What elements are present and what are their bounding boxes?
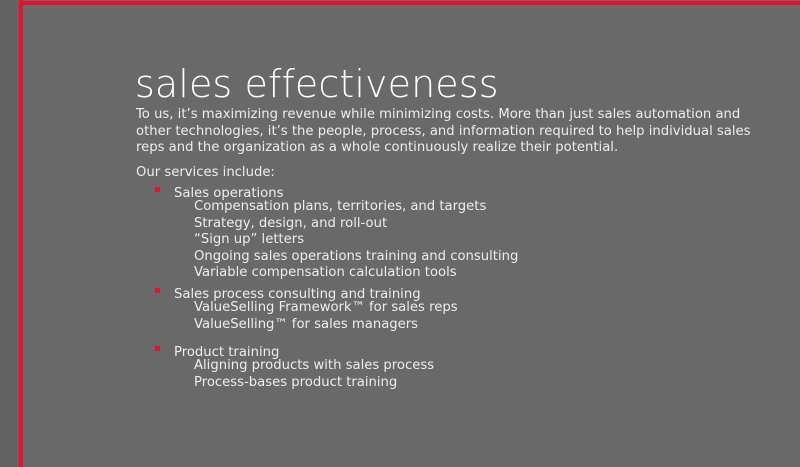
- bullet-group-heading-row: Product training: [0, 341, 660, 358]
- list-item: “Sign up” letters: [0, 232, 660, 249]
- bullet-group-heading: Sales process consulting and training: [174, 287, 421, 302]
- slide-canvas: sales effectiveness To us, it’s maximizi…: [0, 0, 800, 467]
- list-item: Aligning products with sales process: [0, 358, 660, 375]
- bullet-group: Sales operations Compensation plans, ter…: [0, 182, 660, 282]
- list-item: Compensation plans, territories, and tar…: [0, 199, 660, 216]
- page-title: sales effectiveness: [135, 61, 499, 107]
- intro-paragraph: To us, it’s maximizing revenue while min…: [136, 107, 761, 156]
- list-item: Process-bases product training: [0, 375, 660, 392]
- bullet-group-heading: Product training: [174, 345, 279, 360]
- bullet-group-heading-row: Sales process consulting and training: [0, 283, 660, 300]
- bullet-group-heading-row: Sales operations: [0, 182, 660, 199]
- list-item: Ongoing sales operations training and co…: [0, 249, 660, 266]
- bullet-group-sublist: Aligning products with sales process Pro…: [0, 358, 660, 391]
- bullet-group-sublist: ValueSelling Framework™ for sales reps V…: [0, 300, 660, 333]
- bullet-group: Product training Aligning products with …: [0, 341, 660, 391]
- list-item: ValueSelling Framework™ for sales reps: [0, 300, 660, 317]
- square-bullet-icon: [155, 346, 160, 351]
- list-item: Variable compensation calculation tools: [0, 265, 660, 282]
- bullet-group-heading: Sales operations: [174, 186, 283, 201]
- list-item: ValueSelling™ for sales managers: [0, 317, 660, 334]
- bullet-group-sublist: Compensation plans, territories, and tar…: [0, 199, 660, 282]
- slide-content: sales effectiveness To us, it’s maximizi…: [0, 0, 800, 467]
- services-lead-text: Our services include:: [136, 165, 275, 181]
- square-bullet-icon: [155, 187, 160, 192]
- list-item: Strategy, design, and roll-out: [0, 216, 660, 233]
- square-bullet-icon: [155, 288, 160, 293]
- bullet-group: Sales process consulting and training Va…: [0, 283, 660, 333]
